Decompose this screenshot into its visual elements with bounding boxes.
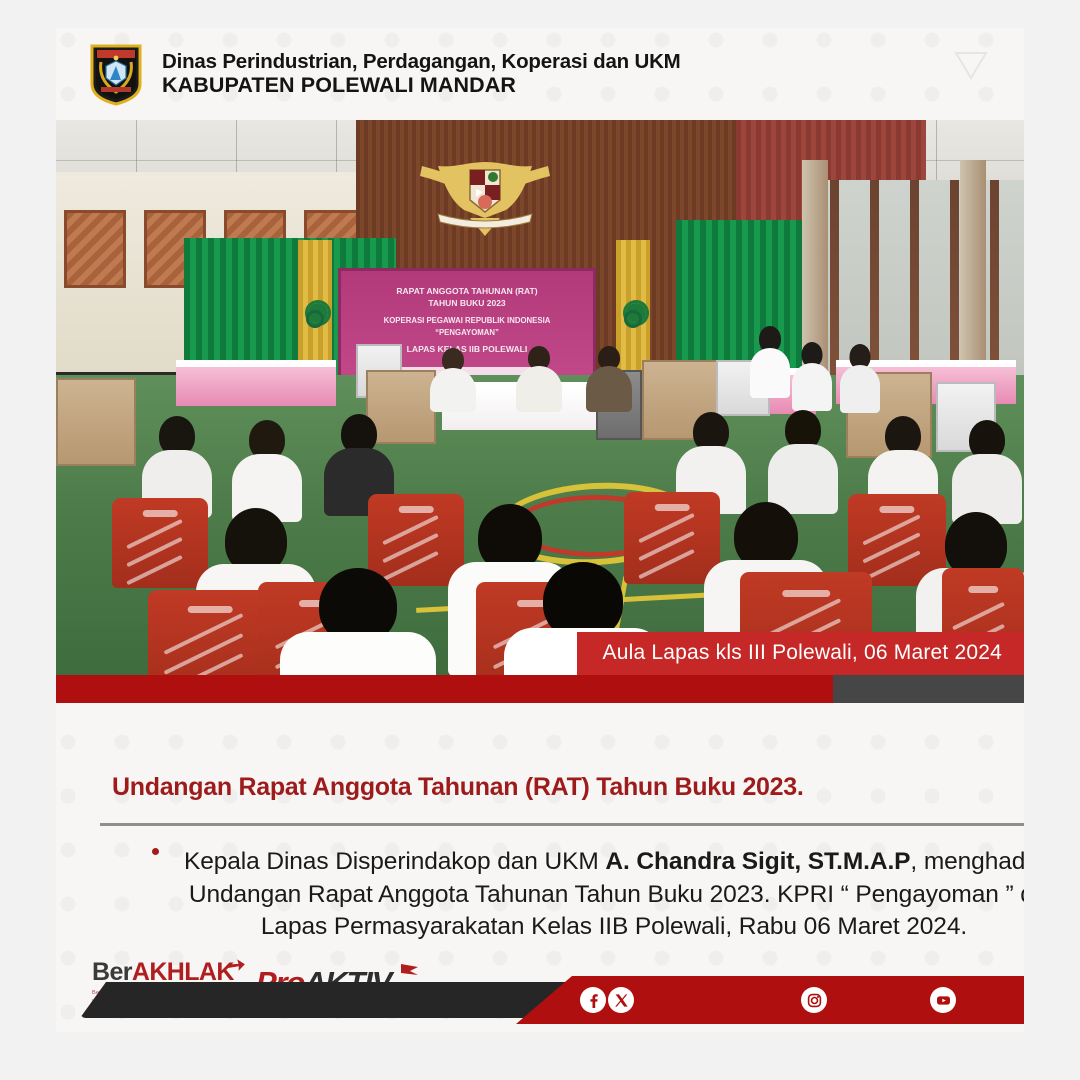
panelist <box>430 348 476 410</box>
attendee <box>952 420 1022 518</box>
attendee <box>280 568 436 675</box>
standing-attendee <box>750 326 790 396</box>
attendee <box>232 420 302 516</box>
divider-bar-grey <box>833 675 1024 703</box>
standing-attendee <box>792 342 832 408</box>
banner-line-3: KOPERASI PEGAWAI REPUBLIK INDONESIA <box>341 317 593 326</box>
red-flag-icon <box>398 954 420 974</box>
body-paragraph: Kepala Dinas Disperindakop dan UKM A. Ch… <box>164 846 1024 944</box>
rat-meeting-photo: RAPAT ANGGOTA TAHUNAN (RAT) TAHUN BUKU 2… <box>56 120 1024 675</box>
footer: BerAKHLAK➚ Berorientasi Pelayanan Akunta… <box>56 946 1024 1032</box>
header: Dinas Perindustrian, Perdagangan, Kopera… <box>56 28 1024 120</box>
garuda-pancasila-emblem-icon <box>410 144 560 240</box>
wall-medallion <box>306 310 324 328</box>
polewali-mandar-crest-icon <box>88 42 144 106</box>
chair <box>148 590 272 675</box>
facebook-icon[interactable] <box>580 987 606 1013</box>
panelist <box>516 346 562 410</box>
wall-medallion <box>624 310 642 328</box>
goods-box <box>56 378 136 466</box>
header-line-1: Dinas Perindustrian, Perdagangan, Kopera… <box>162 50 681 74</box>
instagram-icon[interactable] <box>801 987 827 1013</box>
youtube-icon[interactable] <box>930 987 956 1013</box>
social-links <box>56 976 1024 1024</box>
divider-line <box>100 823 1024 826</box>
header-line-2: KABUPATEN POLEWALI MANDAR <box>162 73 681 98</box>
divider-bar <box>56 675 1024 703</box>
bullet-point <box>152 848 159 855</box>
footer-bar <box>56 976 1024 1024</box>
post-card: Dinas Perindustrian, Perdagangan, Kopera… <box>56 28 1024 1032</box>
paragraph-part-1: Kepala Dinas Disperindakop dan UKM <box>184 848 605 875</box>
person-name: A. Chandra Sigit, ST.M.A.P <box>605 848 910 875</box>
photo-caption: Aula Lapas kls III Polewali, 06 Maret 20… <box>577 632 1024 675</box>
panelist <box>586 346 632 410</box>
banner-line-1: RAPAT ANGGOTA TAHUNAN (RAT) <box>341 287 593 296</box>
triangle-down-watermark-icon <box>954 50 988 80</box>
display-table-left <box>176 360 336 406</box>
standing-attendee <box>840 344 880 410</box>
page-title: Undangan Rapat Anggota Tahunan (RAT) Tah… <box>112 773 804 802</box>
divider-bar-red <box>56 675 833 703</box>
x-twitter-icon[interactable] <box>608 987 634 1013</box>
banner-line-2: TAHUN BUKU 2023 <box>341 299 593 308</box>
attendee <box>768 410 838 508</box>
banner-line-4: “PENGAYOMAN” <box>341 329 593 338</box>
chair <box>112 498 208 588</box>
